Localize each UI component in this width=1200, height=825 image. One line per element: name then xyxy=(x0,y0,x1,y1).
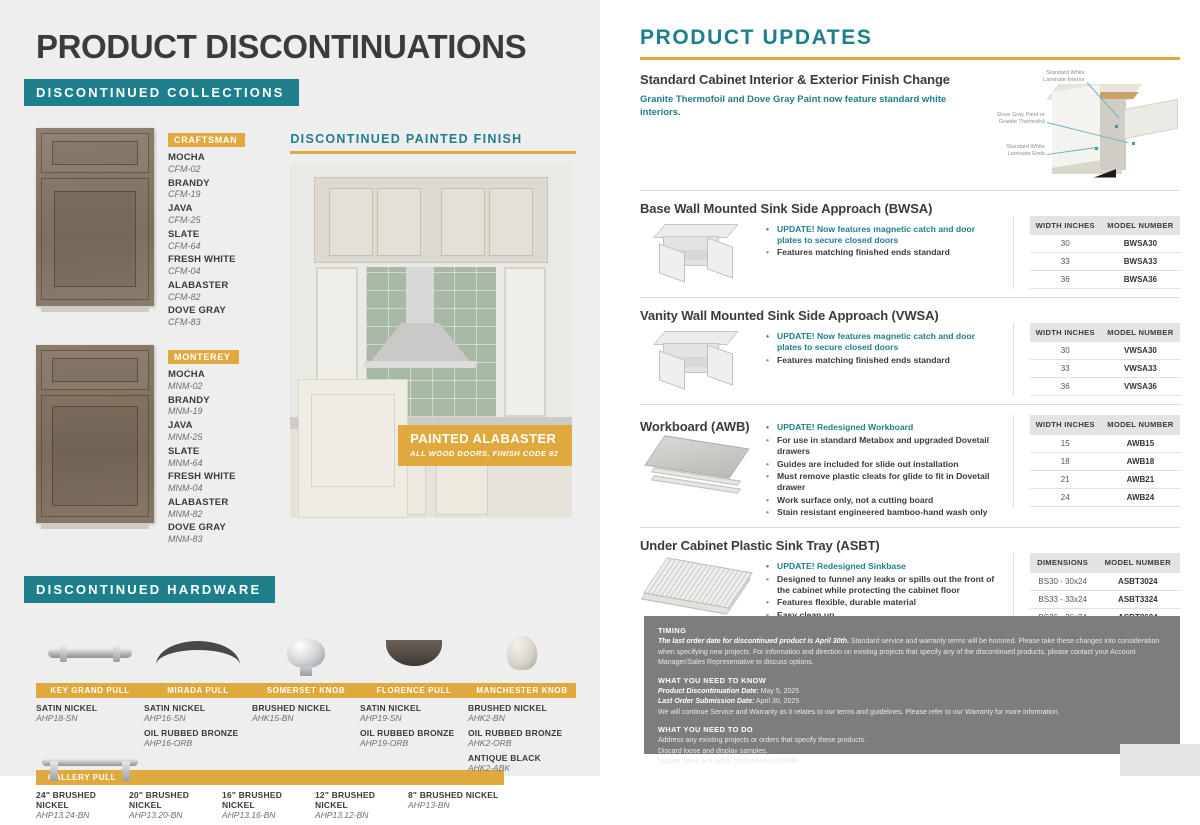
hardware-code: AHP18-SN xyxy=(36,713,144,723)
table-row: BS33 - 33x24ASBT3324 xyxy=(1030,590,1180,608)
discontinuations-panel: PRODUCT DISCONTINUATIONS DISCONTINUED CO… xyxy=(0,0,600,776)
cell-width: 33 xyxy=(1030,360,1101,378)
discontinuation-date-value: May 5, 2025 xyxy=(759,688,799,695)
leader-dot xyxy=(1115,125,1118,128)
bullet: Features flexible, durable material xyxy=(766,597,999,608)
callout-label: Standard White Laminate Ends xyxy=(987,144,1045,159)
cell-width: 24 xyxy=(1030,488,1101,506)
cell-model: BWSA36 xyxy=(1101,270,1180,288)
dome-knob-icon xyxy=(507,636,537,670)
hardware-grid: KEY GRAND PULL SATIN NICKEL AHP18-SN MIR… xyxy=(36,623,576,778)
table-row: 30BWSA30 xyxy=(1030,235,1180,253)
gallery-finish: 8" BRUSHED NICKEL xyxy=(408,790,501,800)
bullet-update: UPDATE! Redesigned Sinkbase xyxy=(766,561,999,572)
finish-name: SLATE xyxy=(168,229,245,241)
photo-caption: PAINTED ALABASTER ALL WOOD DOORS, FINISH… xyxy=(398,425,572,465)
bullet: Features matching finished ends standard xyxy=(766,355,999,366)
cell-dimensions: BS30 - 30x24 xyxy=(1030,573,1096,591)
timing-heading: TIMING xyxy=(658,626,1166,635)
gallery-finish: 24" BRUSHED NICKEL xyxy=(36,790,129,810)
hardware-finish: OIL RUBBED BRONZE xyxy=(468,728,576,738)
cell-model: AWB21 xyxy=(1101,470,1180,488)
callout-label: Dove Gray Paint or Granite Thermofoil xyxy=(987,112,1045,127)
hardware-item: FLORENCE PULL SATIN NICKEL AHP19-SN OIL … xyxy=(360,623,468,778)
cell-width: 33 xyxy=(1030,252,1101,270)
table-row: 24AWB24 xyxy=(1030,488,1180,506)
spec-table: WIDTH INCHES MODEL NUMBER 30BWSA30 33BWS… xyxy=(1030,216,1180,289)
section-workboard: Workboard (AWB) UPDATE! Redesigned Workb… xyxy=(640,405,1180,528)
section-subtext: Granite Thermofoil and Dove Gray Paint n… xyxy=(640,93,987,121)
hardware-code: AHP19-ORB xyxy=(360,738,468,748)
hardware-code: AHK2-BN xyxy=(468,713,576,723)
collection-tag-craftsman: CRAFTSMAN xyxy=(168,133,245,147)
cell-width: 15 xyxy=(1030,435,1101,453)
photo-upper-cabinets xyxy=(314,177,548,263)
hardware-finish: SATIN NICKEL xyxy=(144,703,252,713)
page-corner-block xyxy=(1120,744,1200,776)
hardware-item: SOMERSET KNOB BRUSHED NICKEL AHK15-BN xyxy=(252,623,360,778)
gallery-item: 12" BRUSHED NICKEL AHP13.12-BN xyxy=(315,790,408,825)
table-row: 21AWB21 xyxy=(1030,470,1180,488)
warranty-note: We will continue Service and Warranty as… xyxy=(658,708,1166,719)
last-order-date-value: April 30, 2025 xyxy=(754,698,799,705)
col-header: DIMENSIONS xyxy=(1030,553,1096,572)
door-panel-detail xyxy=(41,395,149,517)
last-order-date-label: Last Order Submission Date: xyxy=(658,698,754,705)
bullet-update: UPDATE! Now features magnetic catch and … xyxy=(766,224,999,247)
last-order-date-line: Last Order Submission Date: April 30, 20… xyxy=(658,697,1166,708)
finish-code: CFM-83 xyxy=(168,317,245,329)
catalog-page: PRODUCT DISCONTINUATIONS DISCONTINUED CO… xyxy=(0,0,1200,776)
cell-width: 18 xyxy=(1030,452,1101,470)
hardware-finish: OIL RUBBED BRONZE xyxy=(360,728,468,738)
door-drawer-detail xyxy=(41,350,149,390)
photo-hood-stack xyxy=(406,267,434,325)
hardware-tag: FLORENCE PULL xyxy=(360,683,468,698)
section-bwsa: Base Wall Mounted Sink Side Approach (BW… xyxy=(640,191,1180,298)
page-title: PRODUCT DISCONTINUATIONS xyxy=(36,30,576,63)
door-base-detail xyxy=(41,306,149,312)
hardware-tag: SOMERSET KNOB xyxy=(252,683,360,698)
gallery-code: AHP13.20-BN xyxy=(129,810,222,820)
hardware-tag: MANCHESTER KNOB xyxy=(468,683,576,698)
hardware-finish: BRUSHED NICKEL xyxy=(468,703,576,713)
cell-model: VWSA33 xyxy=(1101,360,1180,378)
cell-model: BWSA30 xyxy=(1101,235,1180,253)
need-to-do-heading: WHAT YOU NEED TO DO xyxy=(658,725,1166,734)
col-header: MODEL NUMBER xyxy=(1101,216,1180,235)
collection-row: MONTEREY MOCHAMNM-02 BRANDYMNM-19 JAVAMN… xyxy=(36,345,290,548)
finish-code: CFM-64 xyxy=(168,241,245,253)
finish-name: SLATE xyxy=(168,446,239,458)
collections-area: CRAFTSMAN MOCHACFM-02 BRANDYCFM-19 JAVAC… xyxy=(36,128,576,562)
cell-width: 36 xyxy=(1030,270,1101,288)
sink-tray-icon xyxy=(648,561,758,617)
bullet: For use in standard Metabox and upgraded… xyxy=(766,435,999,458)
col-header: MODEL NUMBER xyxy=(1101,323,1180,342)
finish-name: BRANDY xyxy=(168,395,239,407)
monterey-door-image xyxy=(36,345,154,523)
painted-finish-title: DISCONTINUED PAINTED FINISH xyxy=(290,132,576,146)
photo-cabinet-door xyxy=(489,188,533,256)
do-line: Discard loose and display samples. xyxy=(658,747,1166,758)
hardware-finish: OIL RUBBED BRONZE xyxy=(144,728,252,738)
photo-cabinet-door xyxy=(441,188,485,256)
gallery-code: AHP13-BN xyxy=(408,800,501,810)
updates-title: PRODUCT UPDATES xyxy=(640,26,1180,50)
cell-model: ASBT3324 xyxy=(1096,590,1180,608)
cell-model: AWB15 xyxy=(1101,435,1180,453)
cell-model: AWB24 xyxy=(1101,488,1180,506)
finish-name: DOVE GRAY xyxy=(168,305,245,317)
gallery-finish: 16" BRUSHED NICKEL xyxy=(222,790,315,810)
hardware-tag: KEY GRAND PULL xyxy=(36,683,144,698)
vwsa-cabinet-icon xyxy=(651,331,755,393)
finish-name: FRESH WHITE xyxy=(168,254,245,266)
hardware-item: MANCHESTER KNOB BRUSHED NICKEL AHK2-BN O… xyxy=(468,623,576,778)
cup-pull-icon xyxy=(386,640,442,666)
discontinuation-date-line: Product Discontinuation Date: May 5, 202… xyxy=(658,687,1166,698)
caption-subtitle: ALL WOOD DOORS, FINISH CODE 82 xyxy=(410,449,558,458)
finish-code: MNM-04 xyxy=(168,483,239,495)
cell-width: 21 xyxy=(1030,470,1101,488)
bullet: Work surface only, not a cutting board xyxy=(766,495,999,506)
finish-name: JAVA xyxy=(168,420,239,432)
bullet: Stain resistant engineered bamboo-hand w… xyxy=(766,507,999,518)
cabinet-drawer xyxy=(1124,98,1178,138)
finish-name: DOVE GRAY xyxy=(168,522,239,534)
photo-glass-cabinet xyxy=(504,267,546,417)
bullet: Designed to funnel any leaks or spills o… xyxy=(766,574,999,597)
hardware-code: AHK2-ABK xyxy=(468,763,576,773)
collection-tag-monterey: MONTEREY xyxy=(168,350,239,364)
hardware-code: AHP16-ORB xyxy=(144,738,252,748)
hardware-code: AHP16-SN xyxy=(144,713,252,723)
section-heading: Vanity Wall Mounted Sink Side Approach (… xyxy=(640,308,1180,323)
finish-name: MOCHA xyxy=(168,369,239,381)
table-row: 33BWSA33 xyxy=(1030,252,1180,270)
table-row: 33VWSA33 xyxy=(1030,360,1180,378)
table-row: 30VWSA30 xyxy=(1030,342,1180,360)
col-header: MODEL NUMBER xyxy=(1101,415,1180,434)
bullet: Must remove plastic cleats for glide to … xyxy=(766,471,999,494)
discontinued-collections-banner: DISCONTINUED COLLECTIONS xyxy=(24,79,299,106)
do-line: Update sales and quote tools when availa… xyxy=(658,757,1166,768)
col-header: WIDTH INCHES xyxy=(1030,323,1101,342)
door-base-detail xyxy=(41,523,149,529)
finish-code: CFM-82 xyxy=(168,292,245,304)
bar-pull-icon xyxy=(48,648,132,658)
bullet-update: UPDATE! Now features magnetic catch and … xyxy=(766,331,999,354)
photo-cabinet-door xyxy=(329,188,373,256)
hardware-code: AHK15-BN xyxy=(252,713,360,723)
kitchen-photo: PAINTED ALABASTER ALL WOOD DOORS, FINISH… xyxy=(290,163,572,518)
finish-name: FRESH WHITE xyxy=(168,471,239,483)
finish-name: BRANDY xyxy=(168,178,245,190)
hardware-finish: BRUSHED NICKEL xyxy=(252,703,360,713)
door-drawer-detail xyxy=(41,133,149,173)
craftsman-door-image xyxy=(36,128,154,306)
bullet-update: UPDATE! Redesigned Workboard xyxy=(766,422,999,433)
finish-name: MOCHA xyxy=(168,152,245,164)
finish-code: MNM-02 xyxy=(168,381,239,393)
timing-box: TIMING The last order date for discontin… xyxy=(644,616,1180,754)
round-knob-icon xyxy=(287,638,325,668)
leader-dot xyxy=(1132,142,1135,145)
hardware-area: DISCONTINUED HARDWARE KEY GRAND PULL SAT… xyxy=(36,576,576,825)
cabinet-illustration xyxy=(1028,74,1180,178)
collections-list: CRAFTSMAN MOCHACFM-02 BRANDYCFM-19 JAVAC… xyxy=(36,128,290,562)
cell-width: 30 xyxy=(1030,235,1101,253)
cell-model: AWB18 xyxy=(1101,452,1180,470)
gallery-item: 16" BRUSHED NICKEL AHP13.16-BN xyxy=(222,790,315,825)
hardware-finish: SATIN NICKEL xyxy=(360,703,468,713)
finish-code: MNM-82 xyxy=(168,509,239,521)
cell-model: VWSA30 xyxy=(1101,342,1180,360)
col-header: WIDTH INCHES xyxy=(1030,415,1101,434)
cabinet-interior xyxy=(1100,98,1126,170)
do-line: Address any existing projects or orders … xyxy=(658,736,1166,747)
gallery-item: 24" BRUSHED NICKEL AHP13.24-BN xyxy=(36,790,129,825)
callout-label: Standard White Laminate Interior xyxy=(1023,70,1085,85)
photo-hood-lip xyxy=(364,361,476,368)
gallery-pull-section: GALLERY PULL 24" BRUSHED NICKEL AHP13.24… xyxy=(36,784,576,825)
arc-pull-icon xyxy=(156,641,240,665)
bullet: Features matching finished ends standard xyxy=(766,247,999,258)
finish-code: CFM-19 xyxy=(168,189,245,201)
hardware-item: MIRADA PULL SATIN NICKEL AHP16-SN OIL RU… xyxy=(144,623,252,778)
gallery-code: AHP13.12-BN xyxy=(315,810,408,820)
section-heading: Base Wall Mounted Sink Side Approach (BW… xyxy=(640,201,1180,216)
timing-lead: The last order date for discontinued pro… xyxy=(658,637,1166,669)
gallery-item: 20" BRUSHED NICKEL AHP13.20-BN xyxy=(129,790,222,825)
door-panel-detail xyxy=(41,178,149,300)
hardware-finish: SATIN NICKEL xyxy=(36,703,144,713)
finish-name: ALABASTER xyxy=(168,497,239,509)
cell-dimensions: BS33 - 33x24 xyxy=(1030,590,1096,608)
need-to-know-heading: WHAT YOU NEED TO KNOW xyxy=(658,676,1166,685)
col-header: MODEL NUMBER xyxy=(1096,553,1180,572)
table-row: 36VWSA36 xyxy=(1030,378,1180,396)
gallery-code: AHP13.24-BN xyxy=(36,810,129,820)
table-row: BS30 - 30x24ASBT3024 xyxy=(1030,573,1180,591)
hardware-finish: ANTIQUE BLACK xyxy=(468,753,576,763)
cell-model: BWSA33 xyxy=(1101,252,1180,270)
finish-name: ALABASTER xyxy=(168,280,245,292)
hardware-item: KEY GRAND PULL SATIN NICKEL AHP18-SN xyxy=(36,623,144,778)
table-row: 15AWB15 xyxy=(1030,435,1180,453)
table-row: 18AWB18 xyxy=(1030,452,1180,470)
finish-code: CFM-02 xyxy=(168,164,245,176)
workboard-icon xyxy=(648,440,758,498)
caption-title: PAINTED ALABASTER xyxy=(410,432,558,446)
col-header: WIDTH INCHES xyxy=(1030,216,1101,235)
photo-island xyxy=(298,379,408,518)
finish-code: MNM-64 xyxy=(168,458,239,470)
cell-width: 30 xyxy=(1030,342,1101,360)
hardware-code: AHK2-ORB xyxy=(468,738,576,748)
section-finish-change: Standard Cabinet Interior & Exterior Fin… xyxy=(640,60,1180,191)
cell-model: VWSA36 xyxy=(1101,378,1180,396)
finish-list-craftsman: MOCHACFM-02 BRANDYCFM-19 JAVACFM-25 SLAT… xyxy=(168,152,245,329)
finish-code: CFM-25 xyxy=(168,215,245,227)
cell-model: ASBT3024 xyxy=(1096,573,1180,591)
cell-width: 36 xyxy=(1030,378,1101,396)
painted-finish-block: DISCONTINUED PAINTED FINISH xyxy=(290,128,576,562)
leader-dot xyxy=(1095,147,1098,150)
collection-row: CRAFTSMAN MOCHACFM-02 BRANDYCFM-19 JAVAC… xyxy=(36,128,290,331)
finish-code: MNM-19 xyxy=(168,406,239,418)
discontinued-hardware-banner: DISCONTINUED HARDWARE xyxy=(24,576,275,603)
section-vwsa: Vanity Wall Mounted Sink Side Approach (… xyxy=(640,298,1180,405)
bullet: Guides are included for slide out instal… xyxy=(766,459,999,470)
finish-code: MNM-83 xyxy=(168,534,239,546)
spec-table: WIDTH INCHES MODEL NUMBER 30VWSA30 33VWS… xyxy=(1030,323,1180,396)
gallery-code: AHP13.16-BN xyxy=(222,810,315,820)
finish-code: CFM-04 xyxy=(168,266,245,278)
spec-table-wrap: WIDTH INCHES MODEL NUMBER 15AWB15 18AWB1… xyxy=(1013,415,1180,506)
finish-name: JAVA xyxy=(168,203,245,215)
finish-code: MNM-25 xyxy=(168,432,239,444)
finish-list-monterey: MOCHAMNM-02 BRANDYMNM-19 JAVAMNM-25 SLAT… xyxy=(168,369,239,546)
section-heading: Under Cabinet Plastic Sink Tray (ASBT) xyxy=(640,538,1180,553)
gallery-finish: 20" BRUSHED NICKEL xyxy=(129,790,222,810)
timing-lead-bold: The last order date for discontinued pro… xyxy=(658,638,849,645)
discontinuation-date-label: Product Discontinuation Date: xyxy=(658,688,759,695)
gold-divider xyxy=(290,151,576,154)
spec-table-wrap: WIDTH INCHES MODEL NUMBER 30VWSA30 33VWS… xyxy=(1013,323,1180,396)
spec-table: WIDTH INCHES MODEL NUMBER 15AWB15 18AWB1… xyxy=(1030,415,1180,506)
gallery-finish: 12" BRUSHED NICKEL xyxy=(315,790,408,810)
table-row: 36BWSA36 xyxy=(1030,270,1180,288)
hardware-code: AHP19-SN xyxy=(360,713,468,723)
gallery-items: 24" BRUSHED NICKEL AHP13.24-BN 20" BRUSH… xyxy=(36,790,576,825)
bwsa-cabinet-icon xyxy=(651,224,755,286)
gallery-item: 8" BRUSHED NICKEL AHP13-BN xyxy=(408,790,501,825)
section-heading: Standard Cabinet Interior & Exterior Fin… xyxy=(640,72,987,87)
photo-cabinet-door xyxy=(377,188,421,256)
gallery-bar-pull-icon xyxy=(42,758,138,766)
spec-table-wrap: WIDTH INCHES MODEL NUMBER 30BWSA30 33BWS… xyxy=(1013,216,1180,289)
cabinet-diagram: Standard White Laminate Interior Dove Gr… xyxy=(987,70,1180,182)
hardware-tag: MIRADA PULL xyxy=(144,683,252,698)
